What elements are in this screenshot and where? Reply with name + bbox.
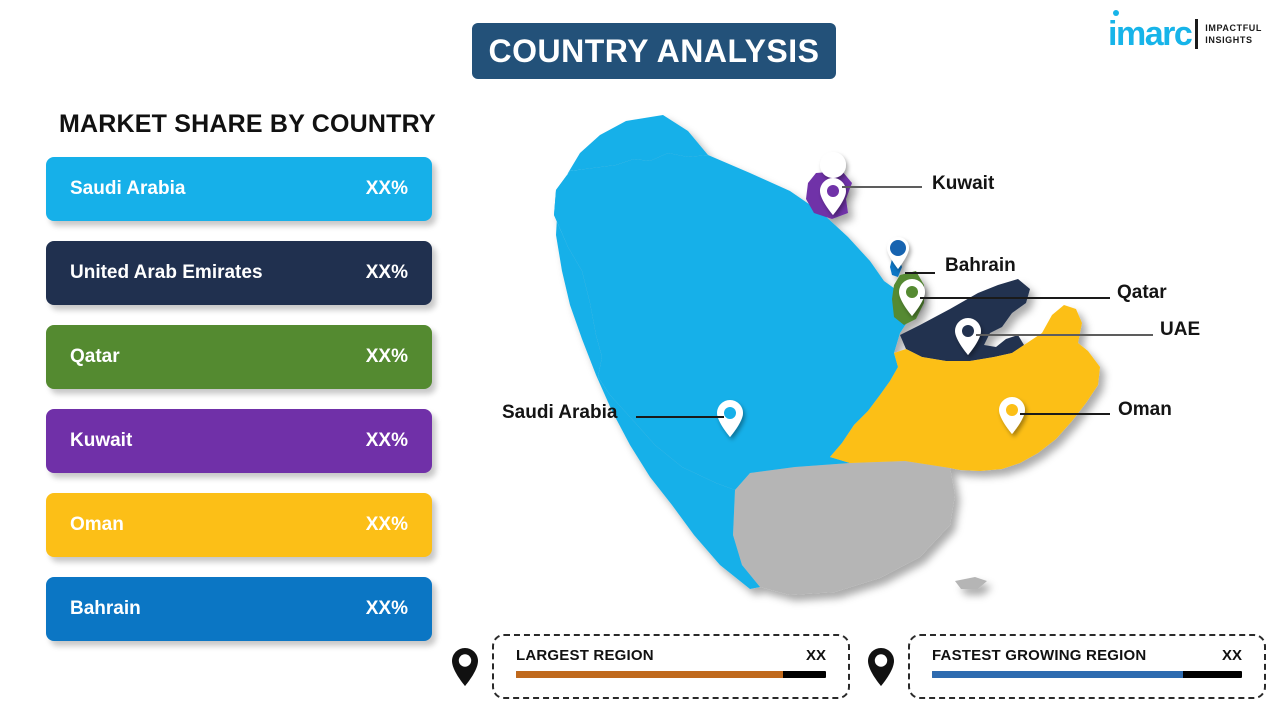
logo-dot-icon	[1113, 10, 1119, 16]
map-label-oman: Oman	[1118, 399, 1172, 421]
fastest-growing-region-value: XX	[1222, 647, 1242, 664]
market-share-bar-oman[interactable]: Oman XX%	[46, 493, 432, 557]
largest-region-progress-track	[516, 671, 826, 678]
market-share-bar-list: Saudi Arabia XX% United Arab Emirates XX…	[46, 157, 432, 661]
fastest-growing-region-title: FASTEST GROWING REGION	[932, 647, 1146, 664]
gulf-region-map: Kuwait Bahrain Qatar UAE Saudi Arabia Om…	[450, 95, 1280, 625]
bar-label: Kuwait	[70, 430, 366, 452]
logo-tagline-line2: INSIGHTS	[1205, 34, 1262, 46]
fastest-growing-region-stat: FASTEST GROWING REGION XX	[866, 634, 1266, 699]
leader-line-saudi-arabia	[636, 416, 724, 418]
market-share-bar-kuwait[interactable]: Kuwait XX%	[46, 409, 432, 473]
bar-value: XX%	[366, 262, 408, 284]
map-label-bahrain: Bahrain	[945, 255, 1016, 277]
market-share-bar-united-arab-emirates[interactable]: United Arab Emirates XX%	[46, 241, 432, 305]
bar-value: XX%	[366, 514, 408, 536]
largest-region-value: XX	[806, 647, 826, 664]
leader-line-qatar	[920, 297, 1110, 299]
market-share-bar-saudi-arabia[interactable]: Saudi Arabia XX%	[46, 157, 432, 221]
bar-value: XX%	[366, 178, 408, 200]
map-svg	[450, 95, 1280, 625]
fastest-growing-region-box[interactable]: FASTEST GROWING REGION XX	[908, 634, 1266, 699]
map-pin-icon	[866, 647, 896, 687]
leader-line-kuwait	[842, 186, 922, 188]
bar-value: XX%	[366, 346, 408, 368]
map-pin-icon	[450, 647, 480, 687]
fastest-growing-region-progress-fill	[932, 671, 1183, 678]
bar-value: XX%	[366, 430, 408, 452]
map-island-unhighlighted	[955, 577, 987, 589]
logo-tagline: IMPACTFUL INSIGHTS	[1205, 22, 1262, 46]
page-title: COUNTRY ANALYSIS	[488, 33, 819, 70]
leader-line-oman	[1020, 413, 1110, 415]
largest-region-stat: LARGEST REGION XX	[450, 634, 850, 699]
largest-region-title: LARGEST REGION	[516, 647, 654, 664]
map-region-unhighlighted	[733, 461, 955, 595]
imarc-logo: imarc IMPACTFUL INSIGHTS	[1108, 14, 1262, 54]
market-share-bar-qatar[interactable]: Qatar XX%	[46, 325, 432, 389]
logo-divider	[1195, 19, 1198, 49]
bar-label: Oman	[70, 514, 366, 536]
market-share-bar-bahrain[interactable]: Bahrain XX%	[46, 577, 432, 641]
logo-tagline-line1: IMPACTFUL	[1205, 22, 1262, 34]
bar-label: Bahrain	[70, 598, 366, 620]
map-pin-bahrain	[887, 237, 909, 269]
map-label-uae: UAE	[1160, 319, 1200, 341]
bar-value: XX%	[366, 598, 408, 620]
logo-wordmark: imarc	[1108, 17, 1191, 51]
bar-label: Qatar	[70, 346, 366, 368]
map-label-qatar: Qatar	[1117, 282, 1167, 304]
largest-region-progress-fill	[516, 671, 783, 678]
bar-label: United Arab Emirates	[70, 262, 366, 284]
market-share-heading: MARKET SHARE BY COUNTRY	[59, 110, 436, 139]
map-label-saudi-arabia: Saudi Arabia	[502, 402, 617, 424]
leader-line-bahrain	[905, 272, 935, 274]
fastest-growing-region-progress-track	[932, 671, 1242, 678]
logo-wordmark-text: imarc	[1108, 15, 1191, 53]
page-title-banner: COUNTRY ANALYSIS	[472, 23, 836, 79]
leader-line-uae	[976, 334, 1153, 336]
map-label-kuwait: Kuwait	[932, 173, 994, 195]
bar-label: Saudi Arabia	[70, 178, 366, 200]
largest-region-box[interactable]: LARGEST REGION XX	[492, 634, 850, 699]
